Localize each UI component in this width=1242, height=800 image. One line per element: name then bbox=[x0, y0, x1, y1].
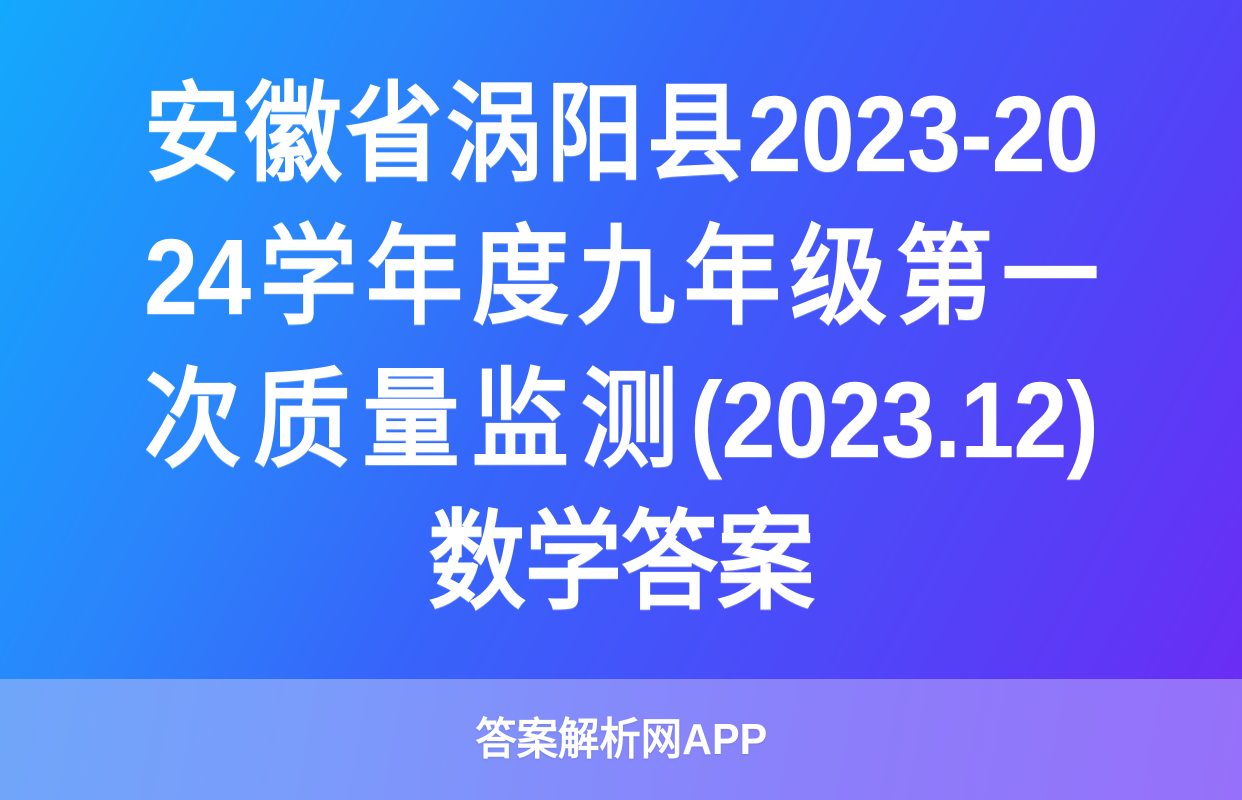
footer-watermark-bar: 答案解析网APP bbox=[0, 679, 1242, 800]
title-card: 安徽省涡阳县2023-2024学年度九年级第一次质量监测(2023.12)数学答… bbox=[0, 0, 1242, 800]
page-title: 安徽省涡阳县2023-2024学年度九年级第一次质量监测(2023.12)数学答… bbox=[144, 63, 1098, 633]
title-block: 安徽省涡阳县2023-2024学年度九年级第一次质量监测(2023.12)数学答… bbox=[91, 45, 1151, 633]
app-watermark-label: 答案解析网APP bbox=[475, 718, 767, 762]
hero-gradient-banner: 安徽省涡阳县2023-2024学年度九年级第一次质量监测(2023.12)数学答… bbox=[0, 0, 1242, 679]
